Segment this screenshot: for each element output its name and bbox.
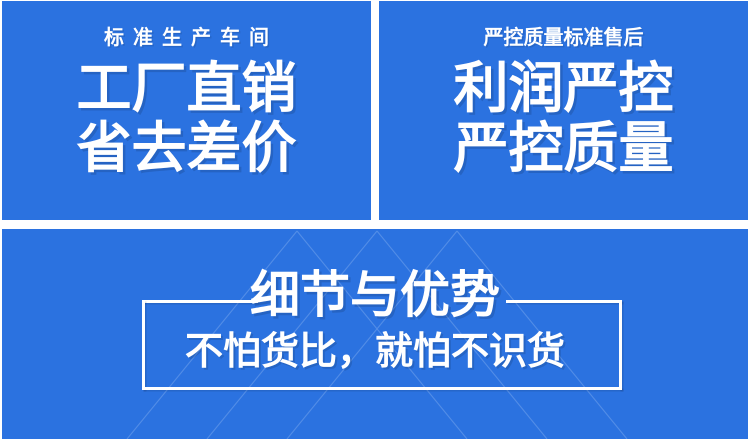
panel-right-eyebrow: 严控质量标准售后 xyxy=(484,28,644,48)
panel-right-headline-line2: 严控质量 xyxy=(453,120,673,176)
top-panel-row: 标准生产车间 工厂直销 省去差价 严控质量标准售后 利润严控 严控质量 xyxy=(2,1,748,220)
panel-left-headline-line1: 工厂直销 xyxy=(76,60,296,116)
frame-bottom-edge xyxy=(142,387,622,390)
panel-details-advantages: 细节与优势 不怕货比，就怕不识货 xyxy=(2,229,748,439)
panel-quality-control: 严控质量标准售后 利润严控 严控质量 xyxy=(379,1,748,220)
bottom-panel-title: 细节与优势 xyxy=(2,270,748,320)
panel-factory-direct: 标准生产车间 工厂直销 省去差价 xyxy=(2,1,371,220)
promo-banner: 标准生产车间 工厂直销 省去差价 严控质量标准售后 利润严控 严控质量 xyxy=(0,0,750,440)
panel-left-headline-line2: 省去差价 xyxy=(76,120,296,176)
panel-left-eyebrow: 标准生产车间 xyxy=(95,28,278,48)
panel-right-headline-line1: 利润严控 xyxy=(453,60,673,116)
bottom-panel-subtitle: 不怕货比，就怕不识货 xyxy=(2,333,748,371)
